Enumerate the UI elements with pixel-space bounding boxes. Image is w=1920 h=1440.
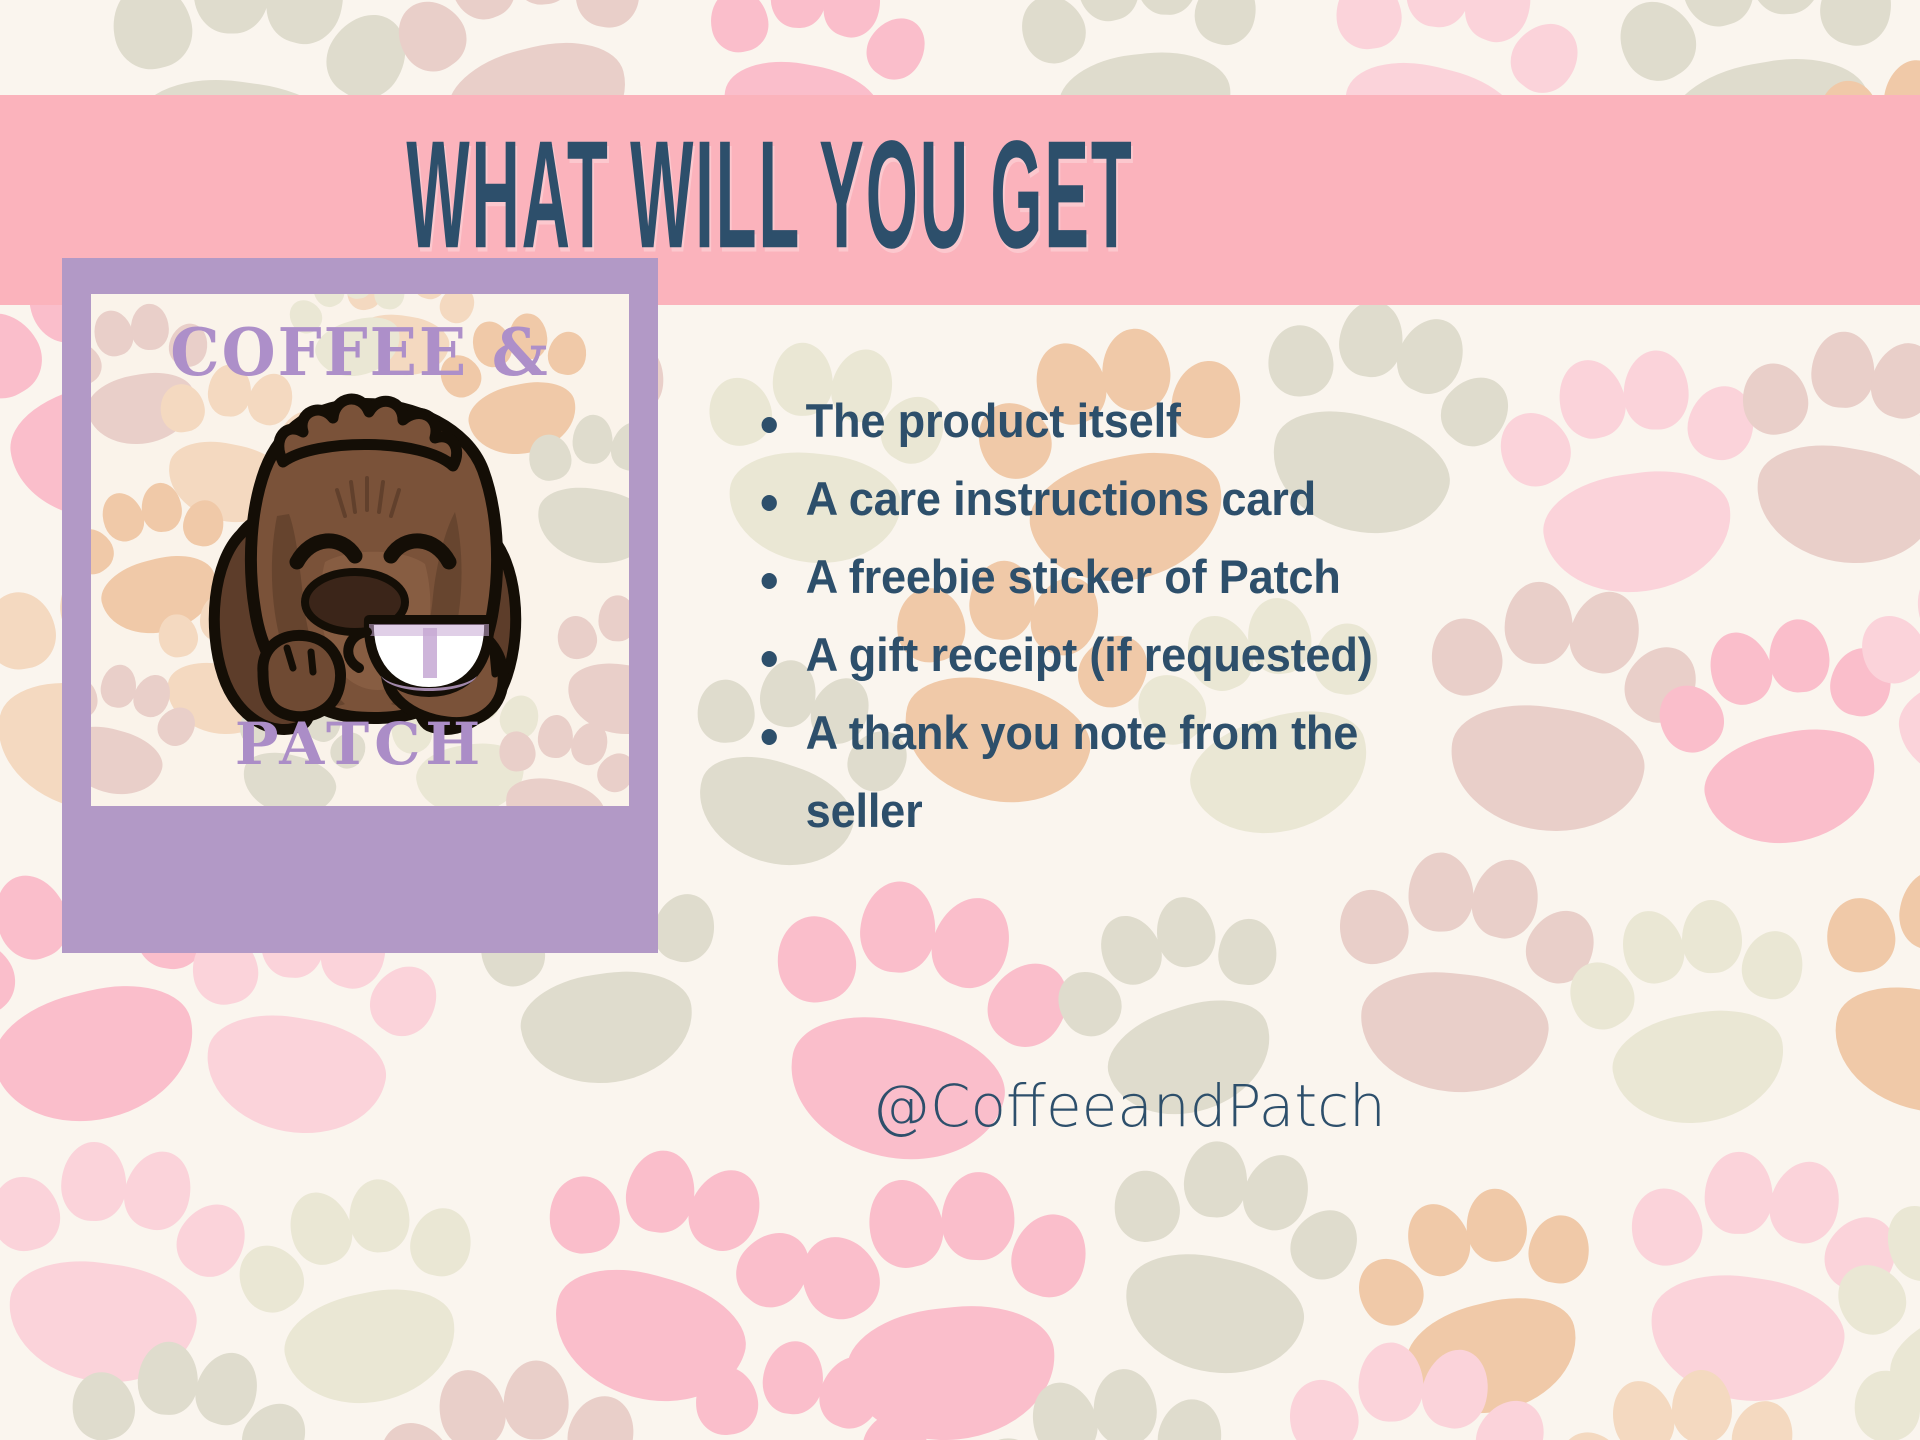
page-title: WHAT WILL YOU GET	[293, 118, 1248, 271]
bullet-dot	[762, 729, 777, 745]
list-item-label: A care instructions card	[806, 472, 1316, 525]
paw-print-icon	[1318, 837, 1602, 1110]
bullet-dot	[762, 495, 777, 511]
list-item: A freebie sticker of Patch	[750, 538, 1441, 616]
list-item: A gift receipt (if requested)	[750, 616, 1441, 694]
social-handle: @CoffeeandPatch	[872, 1072, 1386, 1140]
list-item: A care instructions card	[750, 460, 1441, 538]
list-item-label: The product itself	[806, 394, 1181, 447]
bullet-dot	[762, 417, 777, 433]
bullet-dot	[762, 573, 777, 589]
bullet-dot	[762, 651, 777, 667]
logo-top-text: COFFEE &	[91, 314, 629, 391]
infographic-canvas: WHAT WILL YOU GET COFFEE &	[0, 0, 1920, 1440]
list-item-label: A thank you note from the seller	[806, 706, 1359, 837]
logo-photo: COFFEE &	[91, 294, 629, 806]
list-item-label: A gift receipt (if requested)	[806, 628, 1373, 681]
polaroid-frame: COFFEE &	[62, 258, 658, 953]
logo-bottom-text: PATCH	[91, 710, 629, 778]
paw-print-icon	[1552, 881, 1828, 1147]
list-item: A thank you note from the seller	[750, 694, 1441, 850]
list-item-label: A freebie sticker of Patch	[806, 550, 1341, 603]
benefits-list: The product itself A care instructions c…	[750, 382, 1470, 850]
paw-print-icon	[734, 852, 1087, 1193]
list-item: The product itself	[750, 382, 1441, 460]
